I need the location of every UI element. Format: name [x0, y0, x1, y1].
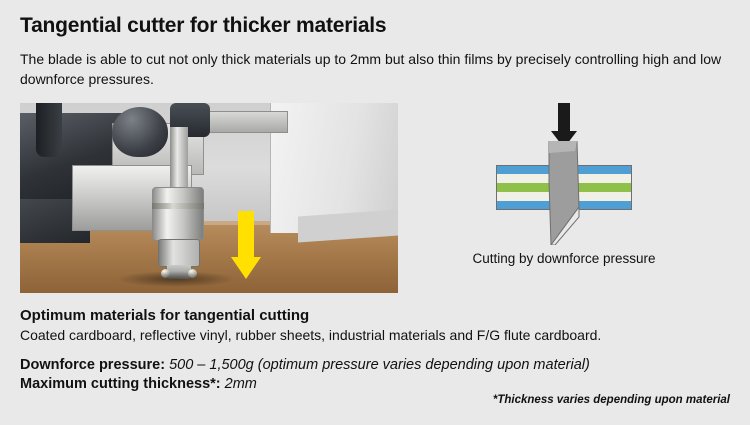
materials-body: Coated cardboard, reflective vinyl, rubb…	[20, 327, 730, 343]
diagram-graphic	[398, 103, 730, 251]
tangential-cutter-photo	[20, 103, 398, 293]
photo-spindle	[170, 127, 188, 189]
media-row: Cutting by downforce pressure	[20, 103, 730, 293]
thickness-label: Maximum cutting thickness*:	[20, 376, 221, 392]
diagram-caption: Cutting by downforce pressure	[398, 251, 730, 266]
materials-heading: Optimum materials for tangential cutting	[20, 307, 730, 324]
downforce-value: 500 – 1,500g (optimum pressure varies de…	[169, 357, 590, 373]
downforce-spec-line: Downforce pressure: 500 – 1,500g (optimu…	[20, 356, 730, 376]
downforce-diagram: Cutting by downforce pressure	[398, 103, 730, 293]
thickness-spec-line: Maximum cutting thickness*: 2mm	[20, 375, 730, 395]
page-title: Tangential cutter for thicker materials	[20, 0, 730, 37]
photo-shadow	[116, 271, 236, 287]
blade-icon	[529, 141, 599, 245]
photo-cutter-head	[158, 239, 200, 267]
photo-tool-cylinder-ring	[152, 203, 204, 209]
downforce-label: Downforce pressure:	[20, 357, 165, 373]
materials-section: Optimum materials for tangential cutting…	[20, 307, 730, 343]
photo-tool-cylinder	[152, 187, 204, 241]
thickness-value: 2mm	[225, 376, 257, 392]
specs-section: Downforce pressure: 500 – 1,500g (optimu…	[20, 356, 730, 411]
info-panel: Tangential cutter for thicker materials …	[0, 0, 750, 425]
photo-cable	[36, 103, 62, 157]
thickness-footnote: *Thickness varies depending upon materia…	[493, 394, 730, 406]
intro-paragraph: The blade is able to cut not only thick …	[20, 49, 730, 90]
photo-adjustment-knob	[112, 107, 168, 157]
footnote-row: *Thickness varies depending upon materia…	[20, 395, 730, 411]
